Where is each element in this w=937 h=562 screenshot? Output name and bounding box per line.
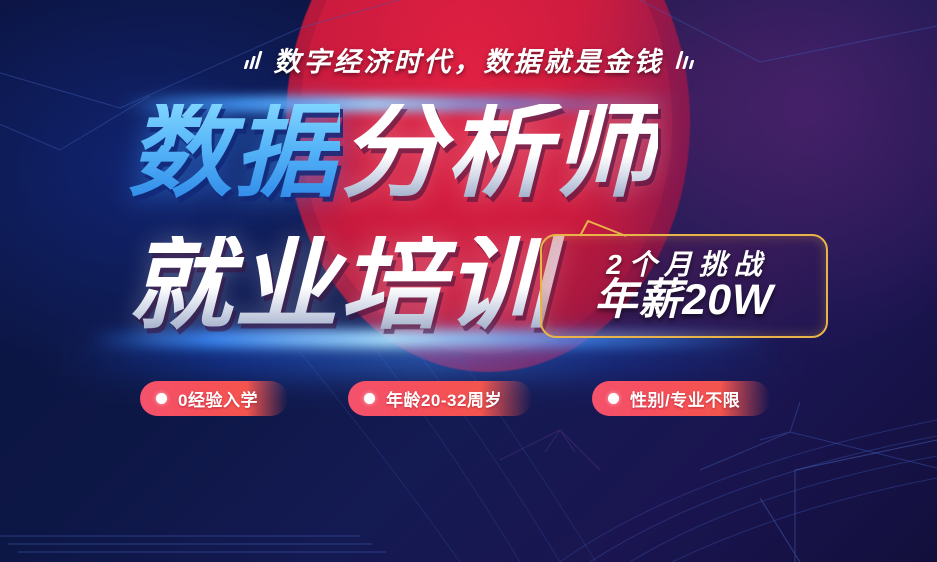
tagline-text: 数字经济时代，数据就是金钱 [274, 40, 664, 79]
bullet-dot-icon [156, 393, 167, 404]
headline-word-analyst: 分析师 [340, 104, 658, 202]
feature-pill-label: 0经验入学 [178, 386, 258, 411]
feature-pill-label: 性别/专业不限 [630, 386, 740, 411]
tagline-row: 数字经济时代，数据就是金钱 [0, 40, 937, 79]
feature-pill-age: 年龄20-32周岁 [348, 381, 532, 416]
salary-badge: 2个月挑战 年薪20W [540, 234, 828, 338]
bullet-dot-icon [364, 393, 375, 404]
bullet-dot-icon [608, 393, 619, 404]
badge-notch-icon [580, 219, 628, 235]
headline-line-1: 数据 分析师 [128, 104, 658, 202]
headline-word-data: 数据 [128, 104, 340, 202]
slash-marks-right-icon [678, 50, 693, 69]
feature-pill-label: 年龄20-32周岁 [386, 386, 502, 411]
feature-pill-experience: 0经验入学 [140, 381, 288, 416]
feature-pill-gender-major: 性别/专业不限 [592, 381, 770, 416]
slash-marks-left-icon [245, 50, 260, 69]
bottom-glow-halo [56, 336, 805, 376]
badge-line-2: 年薪20W [594, 279, 773, 323]
feature-pill-list: 0经验入学 年龄20-32周岁 性别/专业不限 [140, 381, 770, 416]
promo-banner: 数字经济时代，数据就是金钱 数据 分析师 就业培训 2个月挑战 年薪20W 0经… [0, 0, 937, 562]
badge-text-block: 2个月挑战 年薪20W [540, 234, 828, 338]
